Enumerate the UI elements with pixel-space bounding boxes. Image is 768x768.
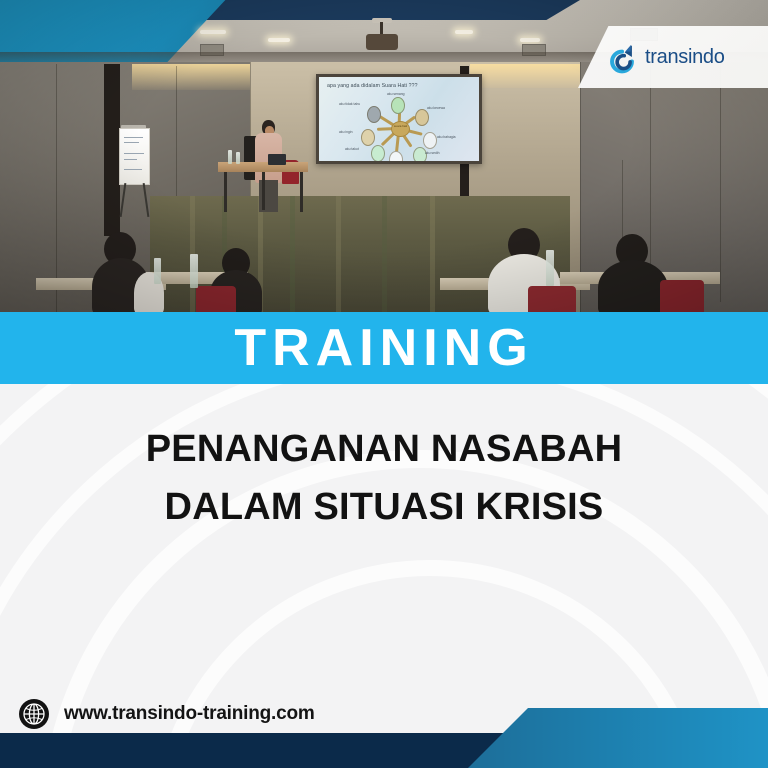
brand-logo-badge: transindo: [578, 26, 768, 88]
photo-wall-glow: [470, 64, 580, 88]
slide-title: apa yang ada didalam Suara Hati ???: [327, 83, 418, 89]
training-classroom-photo: apa yang ada didalam Suara Hati ???: [0, 0, 768, 312]
training-banner-label: TRAINING: [234, 322, 533, 374]
photo-ceiling-light: [200, 30, 226, 34]
photo-chair: [196, 286, 236, 312]
photo-wall-glow: [132, 64, 250, 90]
training-banner: TRAINING: [0, 312, 768, 384]
photo-bottle: [154, 258, 161, 284]
slide-node: [389, 151, 403, 161]
footer-website[interactable]: www.transindo-training.com: [18, 698, 315, 730]
photo-ceiling-light: [455, 30, 473, 34]
photo-chair: [528, 286, 576, 312]
globe-icon: [18, 698, 50, 730]
slide-node: [391, 97, 405, 114]
photo-bottle: [236, 152, 240, 164]
slide-node: [371, 145, 385, 161]
slide-node-label: aku senang: [387, 92, 405, 96]
photo-wall-seam: [56, 64, 57, 312]
slide-node-label: aku sedih: [425, 151, 440, 155]
slide-hub-label: suara hati: [392, 122, 409, 129]
photo-bottle: [546, 250, 554, 286]
photo-ceiling-light: [268, 38, 290, 42]
slide-node: [423, 132, 437, 149]
photo-projection-screen: apa yang ada didalam Suara Hati ???: [316, 74, 482, 164]
transindo-circle-arrow-logo-icon: [604, 37, 640, 77]
photo-bottle: [228, 150, 232, 164]
footer-url-text: www.transindo-training.com: [64, 703, 315, 725]
photo-laptop: [268, 154, 286, 165]
brand-name: transindo: [645, 46, 725, 69]
photo-projector: [366, 34, 398, 50]
slide-node-label: aku bahagia: [437, 135, 455, 139]
photo-flipchart: [119, 128, 150, 185]
photo-ceiling-beam: [160, 0, 580, 20]
photo-bottle: [190, 254, 198, 288]
slide-node: [415, 109, 429, 126]
headline-line-2: DALAM SITUASI KRISIS: [0, 478, 768, 536]
photo-wall-gap: [104, 64, 120, 236]
photo-ceiling-light: [520, 38, 540, 42]
slide-node-label: aku takut: [345, 147, 359, 151]
poster-headline: PENANGANAN NASABAH DALAM SITUASI KRISIS: [0, 420, 768, 536]
slide-node: [361, 129, 375, 146]
photo-chair: [660, 280, 704, 312]
headline-line-1: PENANGANAN NASABAH: [146, 428, 623, 470]
slide-hub: suara hati: [391, 121, 410, 137]
slide-node-label: aku ingin: [339, 130, 353, 134]
photo-attendee: [598, 260, 668, 312]
slide-node-label: aku kecewa: [427, 106, 445, 110]
slide-node: [367, 106, 381, 123]
photo-wall-seam: [720, 62, 721, 302]
training-poster: apa yang ada didalam Suara Hati ???: [0, 0, 768, 768]
slide-node-label: aku tidak tahu: [339, 102, 360, 106]
